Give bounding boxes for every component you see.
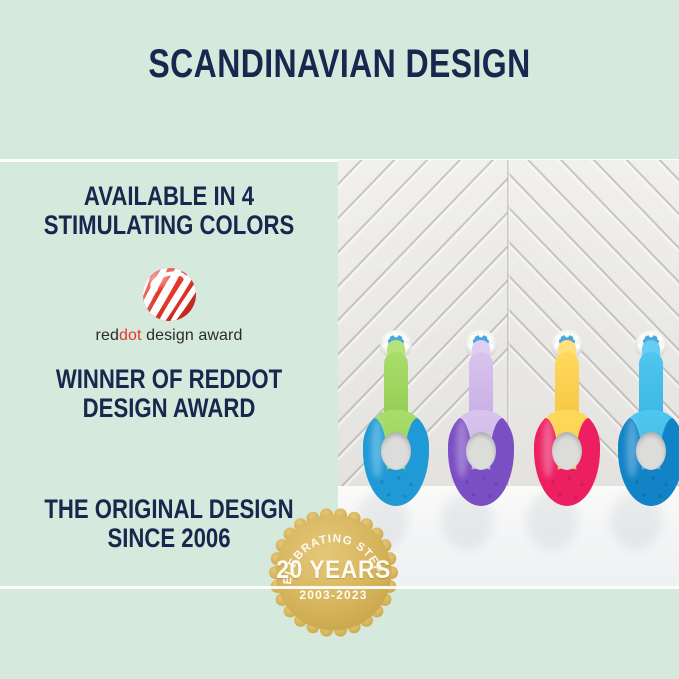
yellow-pink-toothbrush: [534, 332, 600, 507]
reddot-wordmark: reddot design award: [0, 327, 338, 345]
promo-canvas: SCANDINAVIAN DESIGN AVAILABLE IN 4 STIMU…: [0, 0, 679, 679]
original-design-claim: THE ORIGINAL DESIGN SINCE 2006: [30, 495, 307, 553]
reddot-winner-line2: DESIGN AWARD: [30, 394, 307, 423]
reddot-wordmark-red: red: [96, 327, 119, 344]
original-design-line2: SINCE 2006: [30, 524, 307, 553]
green-blue-toothbrush: [363, 332, 429, 507]
available-colors-line2: STIMULATING COLORS: [30, 211, 307, 240]
reddot-winner-claim: WINNER OF REDDOT DESIGN AWARD: [30, 365, 307, 423]
reddot-winner-line1: WINNER OF REDDOT: [30, 365, 307, 394]
badge-year-range: 2003-2023: [267, 588, 400, 602]
brush-highlight: [542, 418, 554, 478]
reddot-wordmark-dot: dot: [119, 327, 142, 344]
brush-finger-hole: [636, 432, 666, 470]
brush-finger-hole: [552, 432, 582, 470]
brush-highlight: [626, 418, 638, 478]
brush-finger-hole: [466, 432, 496, 470]
wall-groove: [338, 160, 508, 346]
reddot-wordmark-rest: design award: [142, 327, 243, 344]
reddot-sphere-icon: [143, 268, 196, 321]
anniversary-badge: CELEBRATING STEP 1 20 YEARS 2003-2023: [267, 506, 400, 639]
badge-headline: 20 YEARS: [272, 556, 394, 585]
original-design-line1: THE ORIGINAL DESIGN: [30, 495, 307, 524]
divider-bottom: [0, 586, 679, 589]
brush-finger-hole: [381, 432, 411, 470]
page-title: SCANDINAVIAN DESIGN: [68, 42, 611, 87]
available-colors-line1: AVAILABLE IN 4: [30, 182, 307, 211]
brush-highlight: [456, 418, 468, 478]
available-colors-claim: AVAILABLE IN 4 STIMULATING COLORS: [30, 182, 307, 240]
brush-highlight: [371, 418, 383, 478]
lightblue-blue-toothbrush: [618, 332, 679, 507]
reddot-award-logo: reddot design award: [0, 268, 338, 345]
lavender-purple-toothbrush: [448, 332, 514, 507]
